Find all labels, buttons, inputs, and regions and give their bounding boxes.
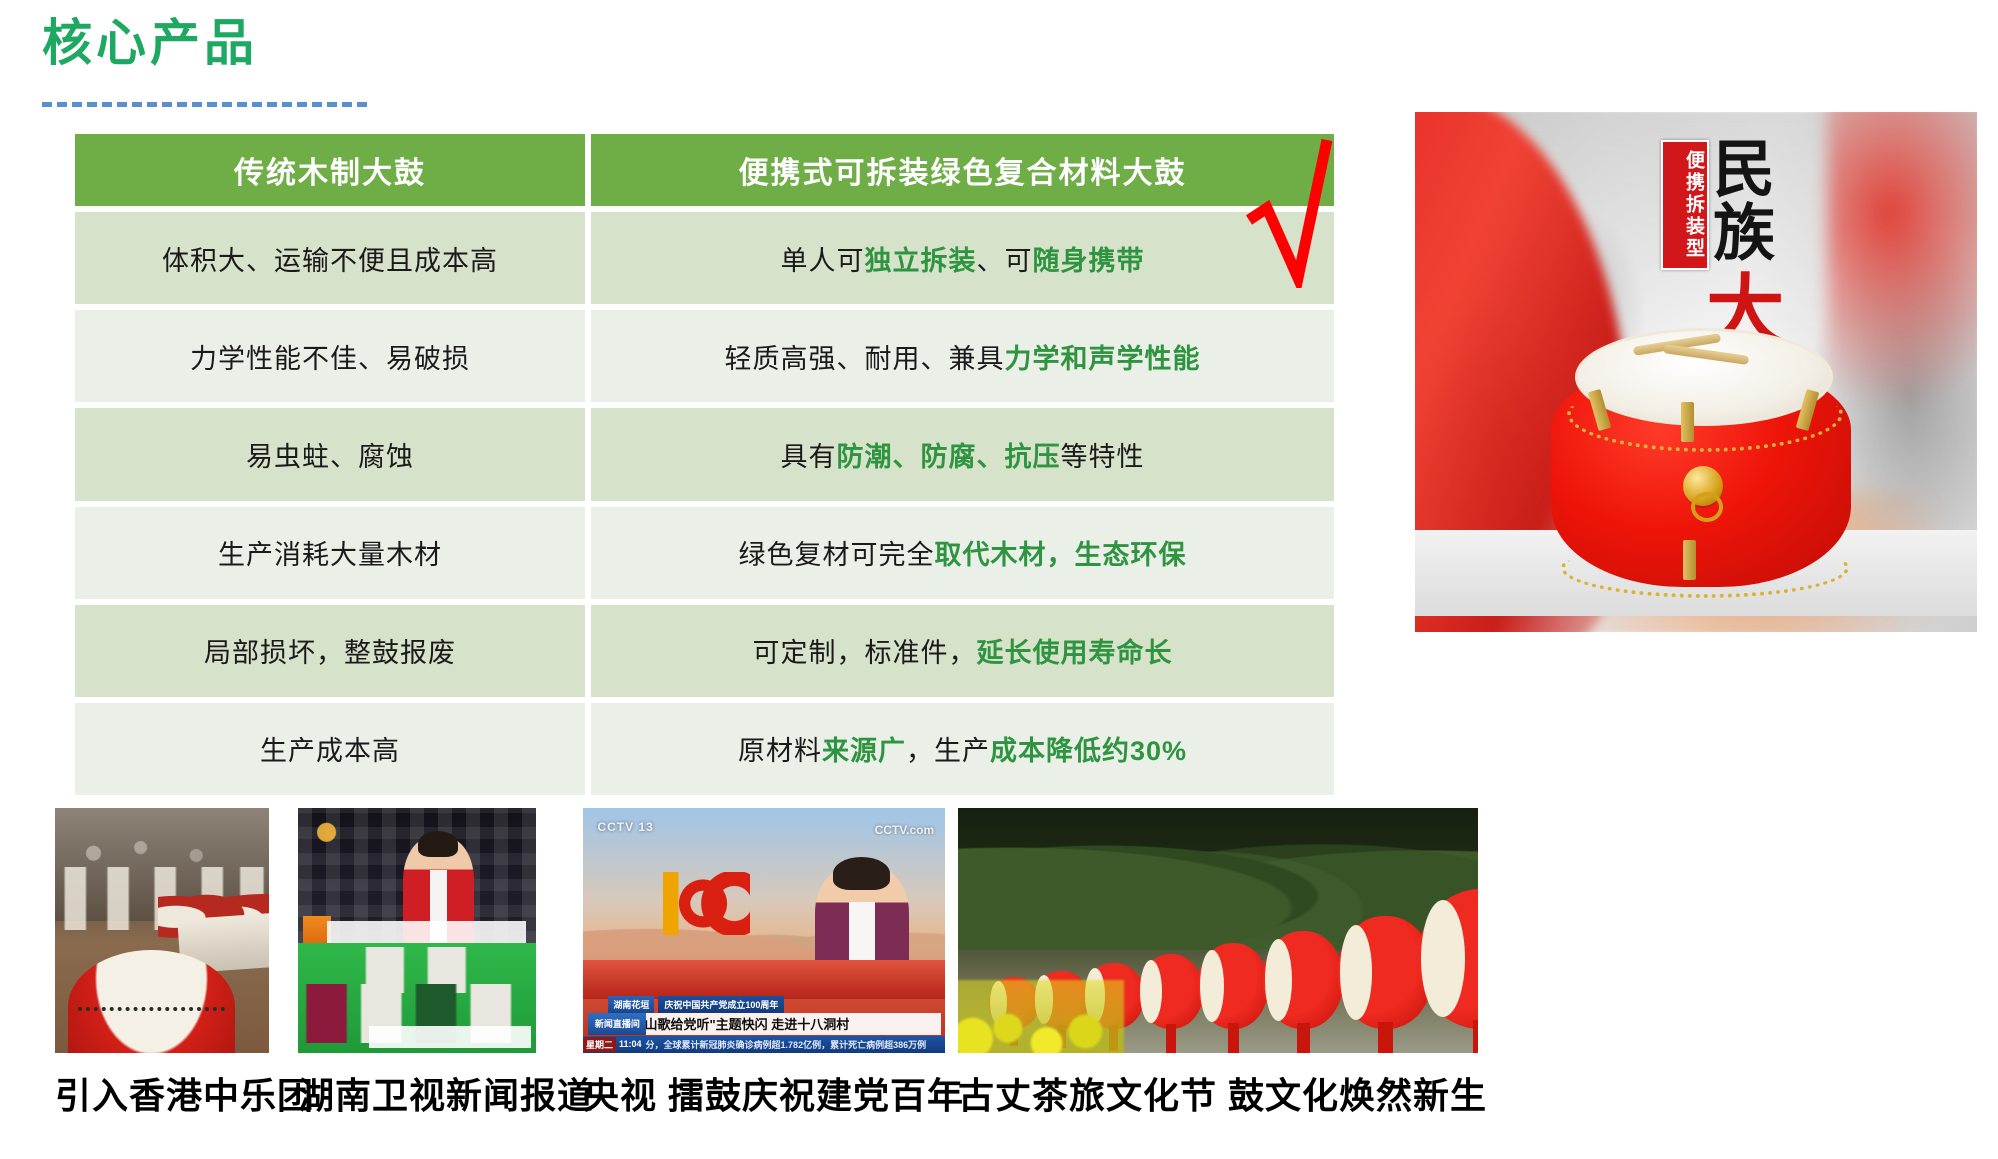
- plain-text: 绿色复材可完全: [739, 533, 935, 572]
- highlighted-text: 来源广: [822, 729, 906, 768]
- cell-portable-1: 单人可独立拆装、可随身携带: [591, 212, 1334, 304]
- cell-portable-3: 具有防潮、防腐、抗压等特性: [591, 408, 1334, 500]
- highlighted-text: 取代木材，生态环保: [935, 533, 1187, 572]
- table-header-row: 传统木制大鼓 便携式可拆装绿色复合材料大鼓: [75, 134, 1334, 206]
- hero-product-image: 便携拆装型 民族 大鼓: [1415, 112, 1977, 632]
- drum-illustration: [1533, 316, 1873, 616]
- plain-text: 等特性: [1061, 435, 1145, 474]
- large-drum: [68, 950, 235, 1053]
- media-gallery: 引入香港中乐团 湖南卫视新闻报道 CCTV 13 CCTV.com 湖南花垣 庆…: [0, 808, 1998, 1159]
- plain-text: 单人可: [781, 239, 865, 278]
- cell-traditional-2: 力学性能不佳、易破损: [75, 310, 585, 402]
- cell-traditional-3: 易虫蛀、腐蚀: [75, 408, 585, 500]
- cctv-news-desk: [583, 960, 945, 999]
- table-row: 体积大、运输不便且成本高 单人可独立拆装、可随身携带: [75, 212, 1334, 304]
- gallery-item: 湖南卫视新闻报道: [298, 808, 594, 1119]
- gallery-caption: 湖南卫视新闻报道: [298, 1067, 594, 1119]
- drum-latch: [1681, 402, 1694, 442]
- plain-text: 具有: [781, 435, 837, 474]
- hero-calligraphy-line1: 民族: [1702, 136, 1775, 264]
- cctv-location-label: 湖南花垣: [608, 996, 654, 1013]
- gallery-item: 引入香港中乐团: [55, 808, 314, 1119]
- gallery-thumb-cctv: CCTV 13 CCTV.com 湖南花垣 庆祝中国共产党成立100周年 "唱支…: [583, 808, 945, 1053]
- comparison-table: 传统木制大鼓 便携式可拆装绿色复合材料大鼓 体积大、运输不便且成本高 单人可独立…: [75, 134, 1334, 795]
- plain-text: 可定制，标准件，: [753, 631, 977, 670]
- header-cell-portable: 便携式可拆装绿色复合材料大鼓: [591, 134, 1334, 206]
- table-row: 局部损坏，整鼓报废 可定制，标准件，延长使用寿命长: [75, 605, 1334, 697]
- cell-traditional-5: 局部损坏，整鼓报废: [75, 605, 585, 697]
- cctv-topic-label: 庆祝中国共产党成立100周年: [658, 996, 784, 1013]
- gallery-caption: 引入香港中乐团: [55, 1067, 314, 1119]
- ticker-text: 分，全球累计新冠肺炎确诊病例超1.782亿例，累计死亡病例超386万例: [646, 1038, 927, 1051]
- gallery-thumb-orchestra: [55, 808, 269, 1053]
- gallery-caption: 古丈茶旅文化节 鼓文化焕然新生: [958, 1067, 1487, 1119]
- festival-drum: [1418, 889, 1478, 1029]
- cctv-channel-logo: CCTV 13: [597, 820, 653, 834]
- gallery-thumb-hunan-tv: [298, 808, 536, 1053]
- news-headline-band: [327, 921, 527, 943]
- drum-handle-ring: [1683, 466, 1723, 506]
- news-headline-band-2: [369, 1026, 531, 1048]
- rapeseed-flowers: [958, 980, 1124, 1054]
- gallery-item: 古丈茶旅文化节 鼓文化焕然新生: [958, 808, 1487, 1119]
- cell-portable-2: 轻质高强、耐用、兼具力学和声学性能: [591, 310, 1334, 402]
- plain-text: ，生产: [906, 729, 990, 768]
- plain-text: 轻质高强、耐用、兼具: [725, 337, 1005, 376]
- festival-drum: [1198, 943, 1268, 1028]
- cctv-program-chip: 新闻直播间: [588, 1013, 646, 1035]
- table-row: 生产消耗大量木材 绿色复材可完全取代木材，生态环保: [75, 507, 1334, 599]
- cctv-watermark: CCTV.com: [875, 823, 935, 837]
- gallery-item: CCTV 13 CCTV.com 湖南花垣 庆祝中国共产党成立100周年 "唱支…: [583, 808, 964, 1119]
- ticker-day: 星期二: [583, 1037, 616, 1052]
- gallery-caption: 央视 擂鼓庆祝建党百年: [583, 1067, 964, 1119]
- highlighted-text: 成本降低约30%: [990, 729, 1187, 768]
- gallery-thumb-festival: [958, 808, 1478, 1053]
- cctv-headline: "唱支山歌给党听"主题快闪 走进十八洞村: [608, 1013, 941, 1035]
- page-title: 核心产品: [42, 16, 258, 71]
- ticker-time: 11:04: [619, 1039, 642, 1049]
- highlighted-text: 延长使用寿命长: [977, 631, 1173, 670]
- festival-drum: [1263, 931, 1343, 1028]
- cctv-lower-third-row1: 湖南花垣 庆祝中国共产党成立100周年: [608, 994, 784, 1014]
- cell-traditional-1: 体积大、运输不便且成本高: [75, 212, 585, 304]
- cpc-100-logo: [663, 872, 750, 936]
- cell-portable-6: 原材料来源广，生产成本降低约30%: [591, 703, 1334, 795]
- table-row: 易虫蛀、腐蚀 具有防潮、防腐、抗压等特性: [75, 408, 1334, 500]
- plain-text: 、可: [977, 239, 1033, 278]
- cell-traditional-4: 生产消耗大量木材: [75, 507, 585, 599]
- highlighted-text: 随身携带: [1033, 239, 1145, 278]
- table-row: 生产成本高 原材料来源广，生产成本降低约30%: [75, 703, 1334, 795]
- drum-latch: [1683, 540, 1696, 580]
- festival-drum: [1139, 954, 1204, 1028]
- cell-portable-4: 绿色复材可完全取代木材，生态环保: [591, 507, 1334, 599]
- highlighted-text: 防潮、防腐、抗压: [837, 435, 1061, 474]
- highlighted-text: 力学和声学性能: [1005, 337, 1201, 376]
- highlighted-text: 独立拆装: [865, 239, 977, 278]
- cell-portable-5: 可定制，标准件，延长使用寿命长: [591, 605, 1334, 697]
- header-cell-traditional: 传统木制大鼓: [75, 134, 585, 206]
- table-row: 力学性能不佳、易破损 轻质高强、耐用、兼具力学和声学性能: [75, 310, 1334, 402]
- cctv-news-ticker: 星期二 11:04 分，全球累计新冠肺炎确诊病例超1.782亿例，累计死亡病例超…: [583, 1036, 945, 1053]
- cell-traditional-6: 生产成本高: [75, 703, 585, 795]
- title-underline-rule: [42, 102, 367, 107]
- plain-text: 原材料: [738, 729, 822, 768]
